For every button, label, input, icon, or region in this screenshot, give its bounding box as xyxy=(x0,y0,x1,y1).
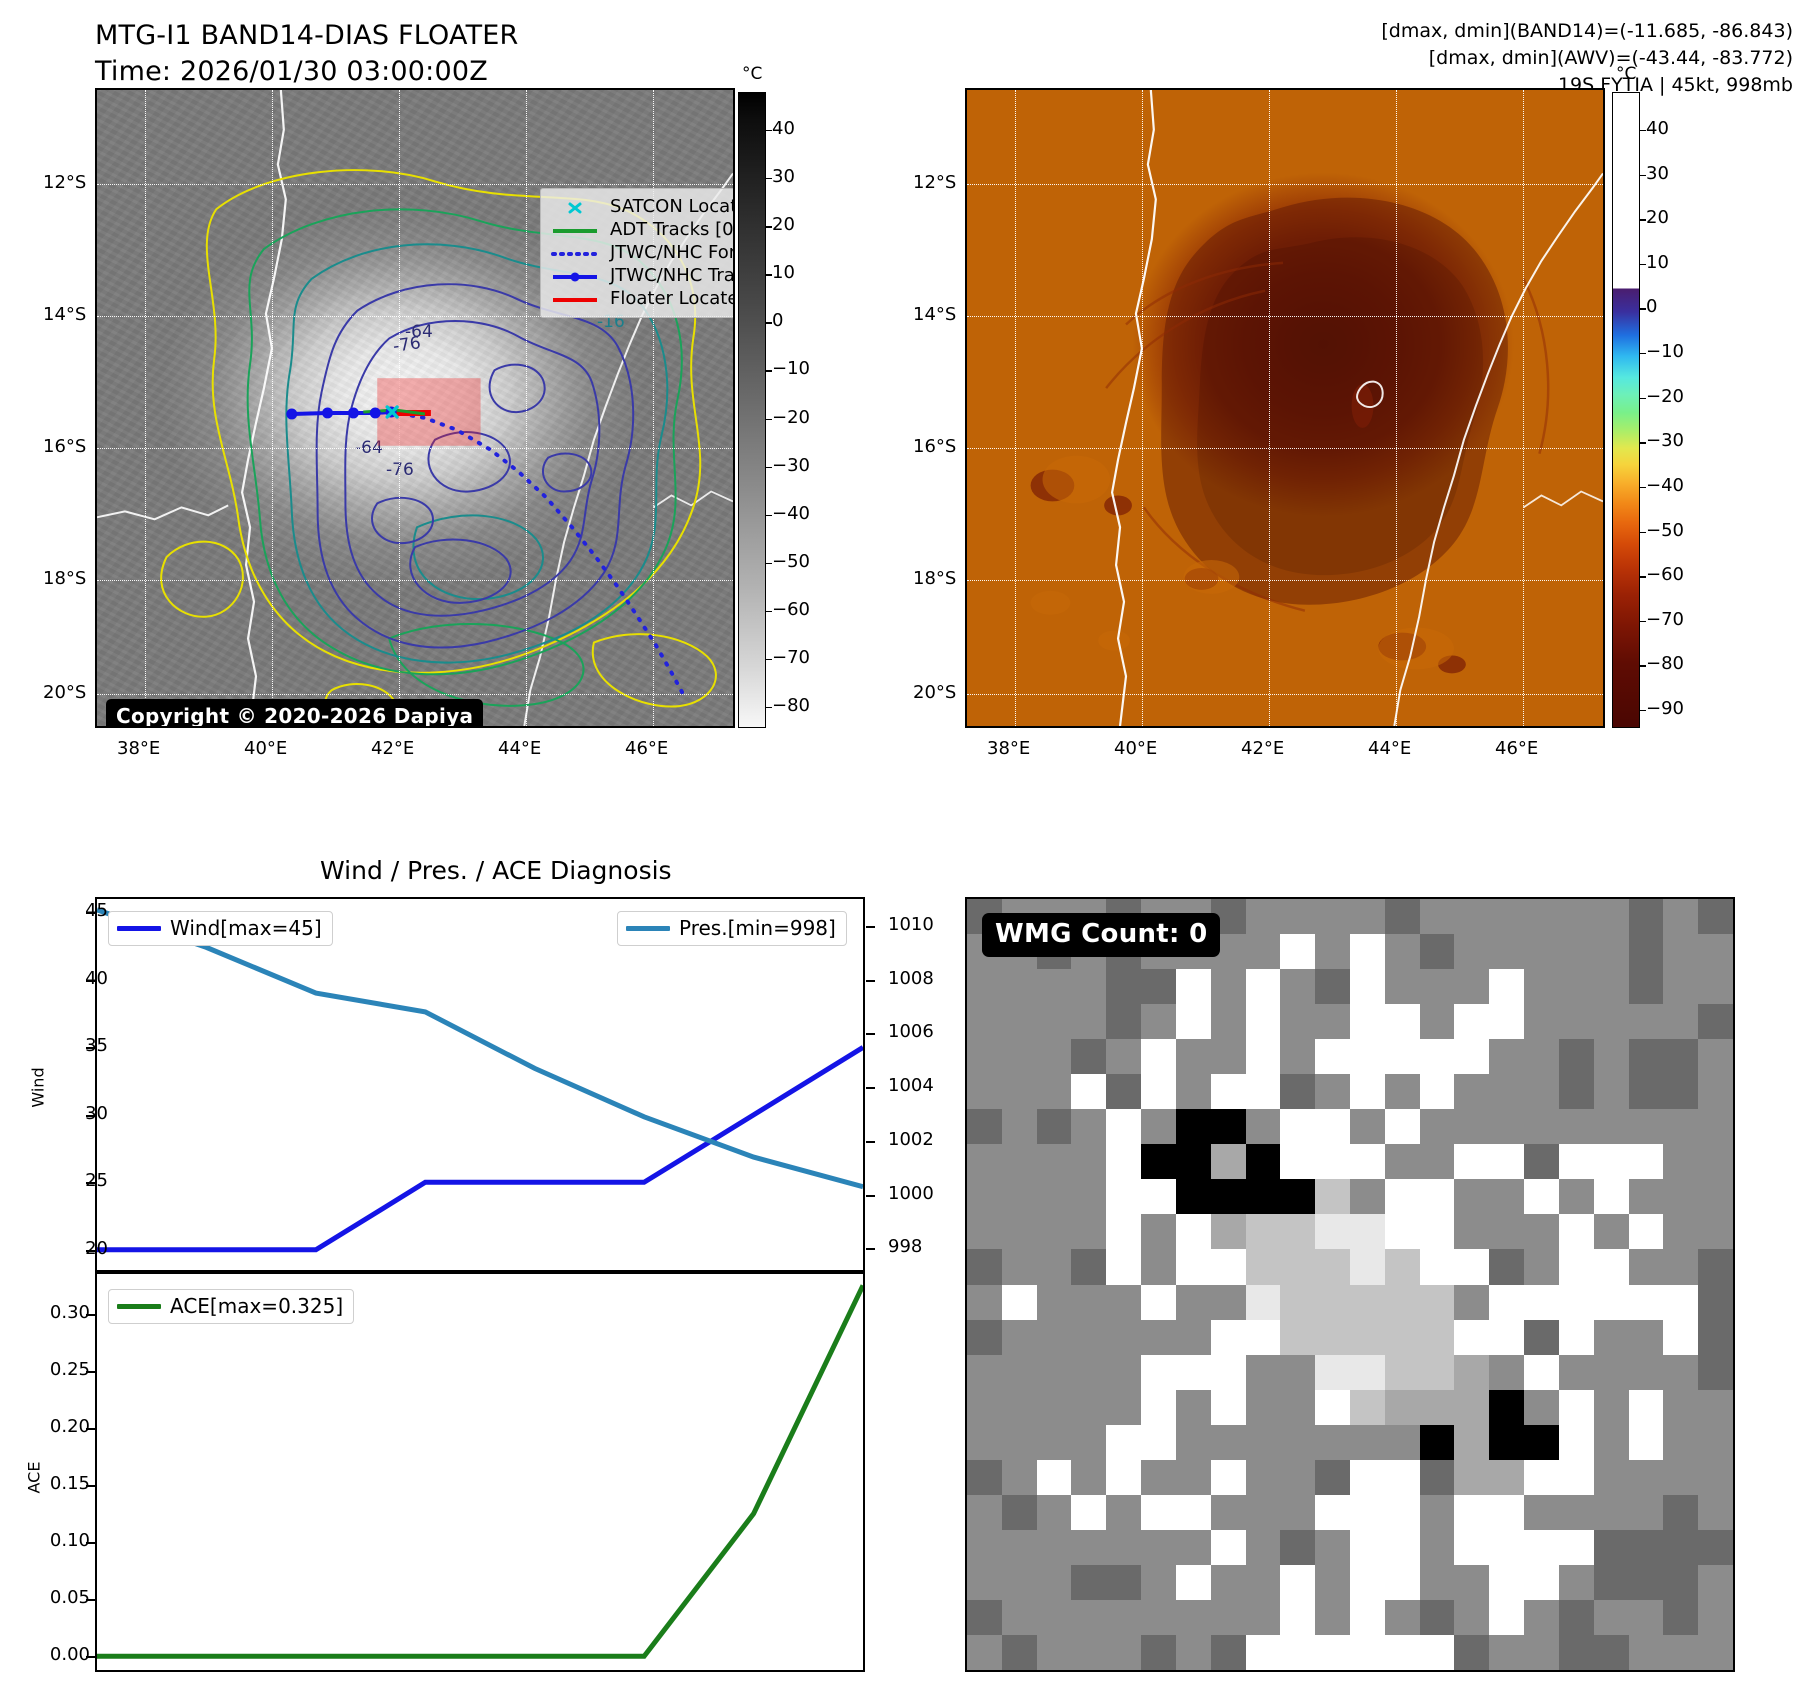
wmg-cell xyxy=(1141,1355,1176,1391)
wmg-cell xyxy=(1454,1565,1489,1601)
wmg-cell xyxy=(1385,1495,1420,1531)
ir-lon-tick-44e: 44°E xyxy=(498,738,541,759)
wmg-cell xyxy=(1106,1285,1141,1321)
wmg-cell xyxy=(1037,1074,1072,1110)
colorbar-tickmark xyxy=(1640,264,1646,265)
wmg-cell xyxy=(1106,1635,1141,1671)
wmg-cell xyxy=(1629,1635,1664,1671)
wmg-cell xyxy=(1385,1109,1420,1145)
wmg-cell xyxy=(1629,1530,1664,1566)
enh-lon-tick-38e: 38°E xyxy=(987,738,1030,759)
wmg-cell xyxy=(1698,934,1733,970)
wmg-cell xyxy=(1246,1600,1281,1636)
wmg-cell xyxy=(1176,1249,1211,1285)
colorbar-tickmark xyxy=(766,130,772,131)
wmg-cell xyxy=(967,969,1002,1005)
colorbar-tick: −50 xyxy=(772,551,810,572)
colorbar-tick: −10 xyxy=(1646,341,1684,362)
wmg-cell xyxy=(1176,1635,1211,1671)
wmg-cell xyxy=(1594,1109,1629,1145)
wmg-cell xyxy=(1037,1565,1072,1601)
wmg-cell xyxy=(967,1214,1002,1250)
wmg-cell xyxy=(1176,1460,1211,1496)
wmg-cell xyxy=(1663,1214,1698,1250)
wmg-cell xyxy=(1211,1004,1246,1040)
product-time: Time: 2026/01/30 03:00:00Z xyxy=(95,54,518,90)
pressure-line-icon xyxy=(626,926,670,931)
wmg-cell xyxy=(1071,1249,1106,1285)
wmg-cell xyxy=(1246,1039,1281,1075)
axis-tick-label: 0.20 xyxy=(32,1416,90,1437)
wmg-cell xyxy=(1002,1495,1037,1531)
wmg-cell xyxy=(1315,1460,1350,1496)
wmg-cell xyxy=(1420,1635,1455,1671)
wmg-cell xyxy=(1037,1039,1072,1075)
wmg-cell xyxy=(1246,1635,1281,1671)
wmg-cell xyxy=(1524,1460,1559,1496)
wmg-cell xyxy=(1454,934,1489,970)
wmg-cell xyxy=(1663,1249,1698,1285)
wmg-cell xyxy=(1071,1285,1106,1321)
wmg-cell xyxy=(1698,1249,1733,1285)
wmg-cell xyxy=(1524,1635,1559,1671)
wmg-cell xyxy=(1350,1144,1385,1180)
wmg-cell xyxy=(1594,1355,1629,1391)
grayscale-ir-map[interactable]: -76 -76 -64 -64 -16 xyxy=(95,88,735,728)
colorbar-tick: −60 xyxy=(1646,564,1684,585)
axis-tick-label: 40 xyxy=(50,968,108,989)
wmg-cell xyxy=(967,1179,1002,1215)
wmg-cell xyxy=(1350,1320,1385,1356)
wmg-cell xyxy=(1489,1460,1524,1496)
wmg-cell xyxy=(1594,1320,1629,1356)
wmg-cell xyxy=(1698,1074,1733,1110)
wmg-cell xyxy=(967,1039,1002,1075)
wmg-cell xyxy=(1454,899,1489,935)
x-marker-icon xyxy=(550,200,600,214)
wmg-cell xyxy=(967,1109,1002,1145)
wmg-cell xyxy=(1524,1565,1559,1601)
wmg-cell xyxy=(1454,1144,1489,1180)
wmg-cell xyxy=(1176,1004,1211,1040)
wmg-cell xyxy=(1524,1390,1559,1426)
wmg-cell xyxy=(1350,1039,1385,1075)
wmg-cell xyxy=(1071,1495,1106,1531)
wmg-cell xyxy=(1280,1320,1315,1356)
wmg-cell xyxy=(1629,934,1664,970)
wmg-cell xyxy=(1211,1285,1246,1321)
wmg-cell xyxy=(1629,1460,1664,1496)
axis-tick-label: 0.10 xyxy=(32,1530,90,1551)
wmg-cell xyxy=(1246,1179,1281,1215)
axis-tickmark xyxy=(86,1250,95,1252)
wmg-cell xyxy=(1211,1249,1246,1285)
wmg-cell xyxy=(1141,1144,1176,1180)
wmg-cell xyxy=(1106,1600,1141,1636)
wmg-cell xyxy=(1315,1004,1350,1040)
legend-label-floater: Floater Locater xyxy=(610,288,735,309)
axis-tick-label: 1006 xyxy=(888,1021,934,1042)
wmg-cell xyxy=(1106,1249,1141,1285)
wmg-cell xyxy=(1280,1355,1315,1391)
wmg-cell xyxy=(1350,1565,1385,1601)
wmg-cell xyxy=(1280,1285,1315,1321)
wmg-cell xyxy=(1211,1109,1246,1145)
series-line xyxy=(97,1047,863,1249)
wmg-cell xyxy=(1037,1249,1072,1285)
wmg-cell xyxy=(1106,1144,1141,1180)
wmg-cell-grid xyxy=(967,899,1733,1670)
wmg-cell xyxy=(1524,969,1559,1005)
dmax-dmin-awv: [dmax, dmin](AWV)=(-43.44, -83.772) xyxy=(1381,45,1793,72)
wmg-cell xyxy=(1280,1109,1315,1145)
dmax-dmin-band14: [dmax, dmin](BAND14)=(-11.685, -86.843) xyxy=(1381,18,1793,45)
wmg-cell xyxy=(1037,1109,1072,1145)
colorbar-tick: 0 xyxy=(772,310,783,331)
wmg-cell xyxy=(1246,1390,1281,1426)
ir-colorbar[interactable] xyxy=(738,92,766,728)
wmg-cell xyxy=(1280,969,1315,1005)
wmg-cell xyxy=(1350,1600,1385,1636)
wmg-cell xyxy=(1698,1109,1733,1145)
wmg-cell xyxy=(1454,1109,1489,1145)
wmg-cell xyxy=(1629,1355,1664,1391)
product-title: MTG-I1 BAND14-DIAS FLOATER xyxy=(95,18,518,54)
wmg-cell xyxy=(1698,969,1733,1005)
ir-lon-tick-46e: 46°E xyxy=(625,738,668,759)
wmg-cell xyxy=(1315,1355,1350,1391)
wmg-cell xyxy=(1176,1600,1211,1636)
wmg-cell xyxy=(1176,1285,1211,1321)
wmg-cell xyxy=(1315,1390,1350,1426)
wmg-cell xyxy=(1071,1600,1106,1636)
wmg-cell xyxy=(1594,1390,1629,1426)
wmg-cell xyxy=(1071,1320,1106,1356)
enh-lat-tick-18s: 18°S xyxy=(913,568,956,589)
wmg-cell xyxy=(1629,969,1664,1005)
enh-lat-tick-14s: 14°S xyxy=(913,304,956,325)
wmg-cell xyxy=(967,1004,1002,1040)
wmg-cell xyxy=(1489,1179,1524,1215)
colorbar-tickmark xyxy=(766,659,772,660)
wmg-cell xyxy=(1559,1004,1594,1040)
ace-line-icon xyxy=(117,1304,161,1309)
axis-tick-label: 0.00 xyxy=(32,1644,90,1665)
wmg-cell xyxy=(1420,1390,1455,1426)
wmg-cell xyxy=(1663,1039,1698,1075)
wmg-cell xyxy=(1420,1355,1455,1391)
wmg-cell xyxy=(1280,1004,1315,1040)
colorbar-tick: −20 xyxy=(1646,386,1684,407)
colorbar-tick: 10 xyxy=(1646,252,1669,273)
wmg-cell xyxy=(1037,1600,1072,1636)
wmg-cell xyxy=(1141,1249,1176,1285)
enh-lat-tick-12s: 12°S xyxy=(913,172,956,193)
wmg-cell xyxy=(1002,1320,1037,1356)
enhanced-ir-map[interactable] xyxy=(965,88,1605,728)
line-red-icon xyxy=(550,292,600,306)
wmg-cell xyxy=(1594,1214,1629,1250)
ir-lon-tick-38e: 38°E xyxy=(117,738,160,759)
wmg-cell xyxy=(1629,1320,1664,1356)
wmg-cell xyxy=(1420,1074,1455,1110)
track-overlay xyxy=(97,90,733,726)
wmg-cell xyxy=(1454,1074,1489,1110)
wmg-cell xyxy=(1211,1495,1246,1531)
wind-legend-label: Wind[max=45] xyxy=(170,916,322,940)
pressure-legend[interactable]: Pres.[min=998] xyxy=(617,911,847,946)
axis-tick-label: 1002 xyxy=(888,1129,934,1150)
ir-lat-tick-16s: 16°S xyxy=(43,436,86,457)
wmg-panel[interactable]: WMG Count: 0 xyxy=(965,897,1735,1672)
wmg-cell xyxy=(967,1249,1002,1285)
wmg-cell xyxy=(1037,1495,1072,1531)
wmg-cell xyxy=(1071,1004,1106,1040)
wmg-cell xyxy=(1629,1495,1664,1531)
wmg-cell xyxy=(1385,1179,1420,1215)
axis-tick-label: 45 xyxy=(50,900,108,921)
wmg-cell xyxy=(1246,1109,1281,1145)
wmg-cell xyxy=(1037,1144,1072,1180)
wmg-cell xyxy=(1489,1074,1524,1110)
legend-label-forecast: JTWC/NHC Forecast [29/1800Z] xyxy=(610,242,735,263)
wmg-cell xyxy=(1106,1530,1141,1566)
wmg-cell xyxy=(1594,969,1629,1005)
wmg-cell xyxy=(1106,1565,1141,1601)
wmg-cell xyxy=(1629,1039,1664,1075)
wmg-cell xyxy=(1559,1074,1594,1110)
colorbar-tick: 30 xyxy=(1646,163,1669,184)
wind-pressure-plot xyxy=(97,899,863,1270)
colorbar-tick: 40 xyxy=(772,118,795,139)
wmg-cell xyxy=(1315,1425,1350,1461)
wmg-cell xyxy=(1350,899,1385,935)
wmg-cell xyxy=(1350,1109,1385,1145)
wmg-cell xyxy=(1489,1600,1524,1636)
wmg-cell xyxy=(1246,1565,1281,1601)
ir-map-legend[interactable]: SATCON Locations [0000Z 49 994] ADT Trac… xyxy=(540,188,735,318)
wmg-cell xyxy=(1211,1530,1246,1566)
wmg-cell xyxy=(967,1635,1002,1671)
wmg-cell xyxy=(1385,1039,1420,1075)
wmg-cell xyxy=(1698,1390,1733,1426)
wmg-cell xyxy=(1350,969,1385,1005)
wmg-cell xyxy=(1176,1355,1211,1391)
wmg-cell xyxy=(1141,1530,1176,1566)
wmg-cell xyxy=(1280,1179,1315,1215)
wmg-cell xyxy=(1246,1214,1281,1250)
wmg-cell xyxy=(1420,1179,1455,1215)
wmg-cell xyxy=(1489,1285,1524,1321)
wmg-cell xyxy=(1489,969,1524,1005)
enh-lon-tick-44e: 44°E xyxy=(1368,738,1411,759)
wmg-cell xyxy=(1594,1285,1629,1321)
axis-tick-label: 0.05 xyxy=(32,1587,90,1608)
colorbar-tickmark xyxy=(1640,398,1646,399)
wmg-cell xyxy=(1141,1600,1176,1636)
legend-item-forecast[interactable]: JTWC/NHC Forecast [29/1800Z] xyxy=(550,241,735,264)
wmg-cell xyxy=(1454,1600,1489,1636)
wmg-cell xyxy=(967,1144,1002,1180)
wmg-cell xyxy=(1663,1004,1698,1040)
wmg-cell xyxy=(1246,1355,1281,1391)
wmg-cell xyxy=(1002,1249,1037,1285)
wmg-cell xyxy=(1420,1004,1455,1040)
legend-item-adt[interactable]: ADT Tracks [0200Z 55.0 995.5] xyxy=(550,218,735,241)
wmg-cell xyxy=(1246,1074,1281,1110)
wmg-cell xyxy=(1698,1355,1733,1391)
wmg-cell xyxy=(1037,1530,1072,1566)
wmg-cell xyxy=(1663,1320,1698,1356)
ace-chart[interactable] xyxy=(95,1272,865,1672)
legend-item-floater[interactable]: Floater Locater xyxy=(550,287,735,310)
wmg-cell xyxy=(1489,1144,1524,1180)
wmg-cell xyxy=(1106,1390,1141,1426)
wmg-cell xyxy=(1211,1214,1246,1250)
legend-item-tracks[interactable]: JTWC/NHC Tracks [30/0000Z] xyxy=(550,264,735,287)
wmg-cell xyxy=(1002,969,1037,1005)
enh-lon-tick-40e: 40°E xyxy=(1114,738,1157,759)
wmg-cell xyxy=(1559,1495,1594,1531)
wmg-cell xyxy=(1002,1179,1037,1215)
wmg-cell xyxy=(1594,1600,1629,1636)
wmg-cell xyxy=(1106,1320,1141,1356)
wmg-cell xyxy=(1594,1495,1629,1531)
wmg-cell xyxy=(1280,1530,1315,1566)
axis-tick-label: 25 xyxy=(50,1170,108,1191)
wmg-cell xyxy=(1350,1355,1385,1391)
wmg-cell xyxy=(1315,1495,1350,1531)
wmg-cell xyxy=(1489,1355,1524,1391)
wmg-cell xyxy=(1071,1214,1106,1250)
colorbar-tick: −10 xyxy=(772,358,810,379)
wmg-cell xyxy=(1489,1109,1524,1145)
axis-tickmark xyxy=(86,912,95,914)
axis-tickmark xyxy=(86,980,95,982)
axis-tick-label: 1000 xyxy=(888,1183,934,1204)
wmg-cell xyxy=(1663,1635,1698,1671)
axis-tick-label: 0.15 xyxy=(32,1473,90,1494)
wmg-cell xyxy=(1454,1320,1489,1356)
axis-tick-label: 1008 xyxy=(888,968,934,989)
axis-tickmark xyxy=(866,1248,875,1250)
wmg-cell xyxy=(1211,1039,1246,1075)
wmg-cell xyxy=(1280,1039,1315,1075)
wmg-cell xyxy=(1071,1039,1106,1075)
wind-pressure-chart[interactable] xyxy=(95,897,865,1272)
wmg-cell xyxy=(1106,969,1141,1005)
wind-legend[interactable]: Wind[max=45] xyxy=(108,911,333,946)
colorbar-tickmark xyxy=(1640,487,1646,488)
wmg-count-badge: WMG Count: 0 xyxy=(982,913,1220,957)
colorbar-tickmark xyxy=(1640,219,1646,220)
wmg-cell xyxy=(1454,1495,1489,1531)
colorbar-tick: −30 xyxy=(1646,430,1684,451)
wmg-cell xyxy=(1698,1530,1733,1566)
colorbar-tick: −70 xyxy=(1646,609,1684,630)
wmg-cell xyxy=(1524,1109,1559,1145)
wmg-cell xyxy=(1524,1074,1559,1110)
ace-legend[interactable]: ACE[max=0.325] xyxy=(108,1289,354,1324)
wmg-cell xyxy=(1420,1039,1455,1075)
legend-label-satcon: SATCON Locations [0000Z 49 994] xyxy=(610,196,735,217)
wmg-cell xyxy=(1315,1214,1350,1250)
colorbar-tick: −50 xyxy=(1646,520,1684,541)
wmg-cell xyxy=(1246,1144,1281,1180)
enhanced-ir-colorbar[interactable] xyxy=(1612,92,1640,728)
enh-lon-tick-46e: 46°E xyxy=(1495,738,1538,759)
wmg-cell xyxy=(1489,1425,1524,1461)
colorbar-tickmark xyxy=(766,707,772,708)
wmg-cell xyxy=(1246,899,1281,935)
wmg-cell xyxy=(1280,1144,1315,1180)
wmg-cell xyxy=(1071,1530,1106,1566)
colorbar-tickmark xyxy=(766,322,772,323)
wmg-cell xyxy=(1106,1039,1141,1075)
wmg-cell xyxy=(1246,1285,1281,1321)
wmg-cell xyxy=(1559,1144,1594,1180)
wmg-cell xyxy=(1385,1600,1420,1636)
wmg-cell xyxy=(1211,969,1246,1005)
wmg-cell xyxy=(1559,1355,1594,1391)
wmg-cell xyxy=(1559,1530,1594,1566)
colorbar-tickmark xyxy=(766,515,772,516)
wmg-cell xyxy=(1176,1565,1211,1601)
wmg-cell xyxy=(1002,1635,1037,1671)
wmg-cell xyxy=(1176,1109,1211,1145)
wmg-cell xyxy=(1037,1004,1072,1040)
wmg-cell xyxy=(1385,969,1420,1005)
colorbar-tick: −90 xyxy=(1646,698,1684,719)
wmg-cell xyxy=(1141,969,1176,1005)
wmg-cell xyxy=(1246,1004,1281,1040)
wmg-cell xyxy=(1037,1285,1072,1321)
wmg-cell xyxy=(1385,899,1420,935)
wmg-cell xyxy=(1280,1249,1315,1285)
wmg-cell xyxy=(1071,1179,1106,1215)
wmg-cell xyxy=(1350,934,1385,970)
wmg-cell xyxy=(967,1600,1002,1636)
wmg-cell xyxy=(1420,1109,1455,1145)
axis-tickmark xyxy=(866,980,875,982)
wmg-cell xyxy=(1350,1635,1385,1671)
wmg-cell xyxy=(1280,1390,1315,1426)
wind-line-icon xyxy=(117,926,161,931)
wmg-cell xyxy=(1594,1179,1629,1215)
legend-item-satcon[interactable]: SATCON Locations [0000Z 49 994] xyxy=(550,195,735,218)
wmg-cell xyxy=(967,1355,1002,1391)
wmg-cell xyxy=(1315,969,1350,1005)
axis-tick-label: 1010 xyxy=(888,914,934,935)
colorbar-tickmark xyxy=(766,274,772,275)
page-title: MTG-I1 BAND14-DIAS FLOATER Time: 2026/01… xyxy=(95,18,518,89)
colorbar-tick: 20 xyxy=(772,214,795,235)
wmg-cell xyxy=(1489,1320,1524,1356)
wmg-cell xyxy=(1002,1214,1037,1250)
colorbar-tick: 10 xyxy=(772,262,795,283)
wmg-cell xyxy=(1559,1039,1594,1075)
wmg-cell xyxy=(1385,1144,1420,1180)
wmg-cell xyxy=(1246,1249,1281,1285)
wmg-cell xyxy=(1071,1355,1106,1391)
axis-tickmark xyxy=(866,1033,875,1035)
enh-colorbar-units: °C xyxy=(1616,64,1636,84)
wmg-cell xyxy=(1246,969,1281,1005)
wmg-cell xyxy=(1420,1495,1455,1531)
stats-readout: [dmax, dmin](BAND14)=(-11.685, -86.843) … xyxy=(1381,18,1793,99)
wmg-cell xyxy=(1350,1285,1385,1321)
wmg-cell xyxy=(1141,1390,1176,1426)
